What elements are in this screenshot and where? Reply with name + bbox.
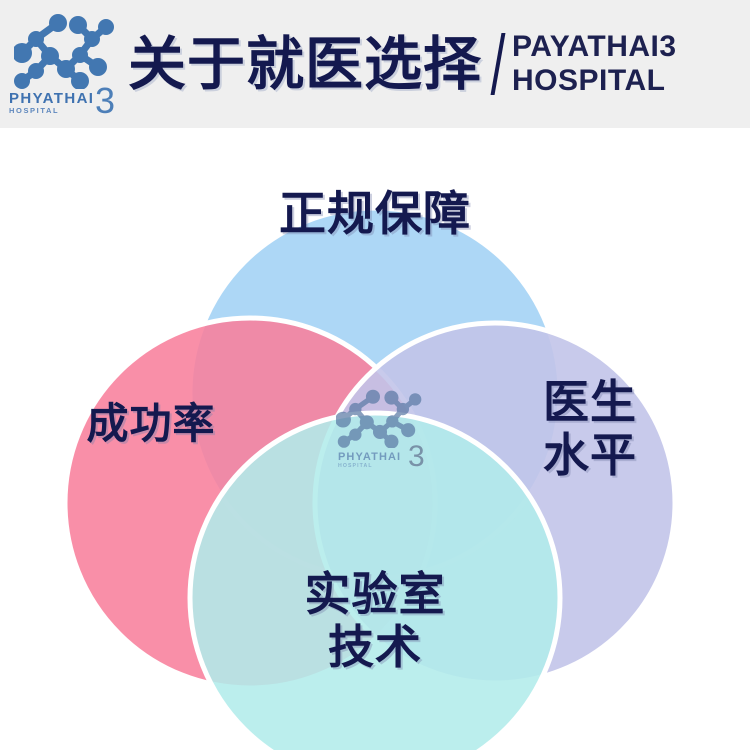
brand-sub: HOSPITAL: [9, 107, 59, 115]
center-watermark-logo: PHYATHAI HOSPITAL 3: [332, 384, 428, 480]
venn-label-right-line1: 医生: [500, 376, 680, 429]
venn-label-bottom-line2: 技术: [250, 621, 500, 674]
brand-wordmark: PHYATHAI HOSPITAL 3: [9, 91, 121, 125]
brand-subtitle-line2: HOSPITAL: [512, 64, 677, 98]
title-divider: [491, 33, 506, 95]
molecule-logo-icon: [14, 9, 114, 89]
watermark-sub: HOSPITAL: [338, 463, 373, 469]
brand-subtitle: PAYATHAI3 HOSPITAL: [512, 30, 677, 98]
brand-subtitle-line1: PAYATHAI3: [512, 30, 677, 64]
brand-name: PHYATHAI: [9, 91, 94, 106]
watermark-number: 3: [408, 442, 425, 472]
venn-label-bottom-line1: 实验室: [250, 568, 500, 621]
venn-label-right: 医生 水平: [500, 376, 680, 483]
page-title: 关于就医选择: [128, 34, 482, 94]
venn-label-right-line2: 水平: [500, 429, 680, 482]
watermark-name: PHYATHAI: [338, 452, 401, 463]
brand-logo: PHYATHAI HOSPITAL 3: [4, 3, 122, 125]
venn-label-bottom: 实验室 技术: [250, 568, 500, 675]
venn-label-left: 成功率: [42, 400, 260, 449]
header-bar: PHYATHAI HOSPITAL 3 关于就医选择 PAYATHAI3 HOS…: [0, 0, 750, 128]
molecule-logo-icon: [336, 386, 424, 448]
poster-canvas: PHYATHAI HOSPITAL 3 关于就医选择 PAYATHAI3 HOS…: [0, 0, 750, 750]
venn-label-top: 正规保障: [215, 188, 535, 243]
venn-diagram: PHYATHAI HOSPITAL 3 正规保障 成功率 医生 水平 实验室 技…: [0, 128, 750, 750]
brand-number: 3: [95, 83, 115, 119]
